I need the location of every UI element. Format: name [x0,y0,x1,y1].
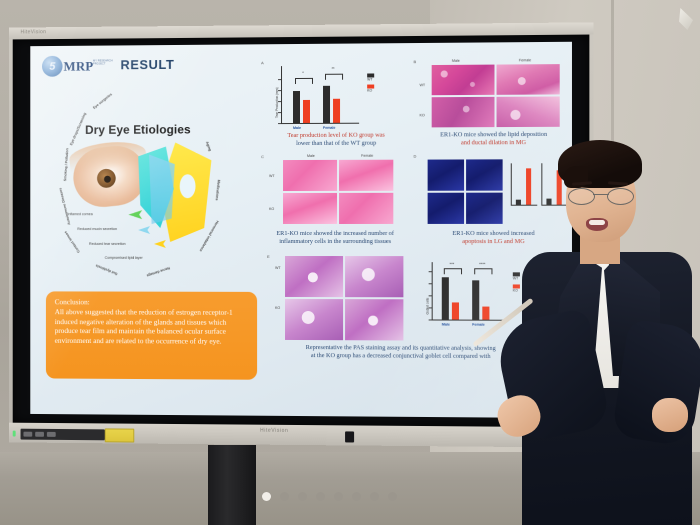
histology-cell-wt-male [432,65,495,96]
histo-b-row-wt: WT [420,83,426,87]
chart-e-bar-ko-female [482,307,489,320]
slide-dot-5[interactable] [334,492,343,501]
tunel-cell-1 [428,159,465,191]
chart-e-sig-female: **** [472,261,492,266]
logo-subtext: MY RESEARCH PROJECT [93,59,115,66]
chart-e-xtick-female: Female [472,323,485,327]
logo-text: MRP [64,59,94,75]
histology-cell-c-1 [283,160,337,191]
histo-c-col-male: Male [307,154,315,158]
histo-b-row-ko: KO [420,113,425,117]
presenter-mouth [586,218,608,231]
caption-panel-e: Representative the PAS staining assay an… [265,344,537,361]
infographic-title: Dry Eye Etiologies [85,123,191,137]
chart-a-legend-ko-label: KO [367,89,372,93]
chart-a-bar-wt-female [323,86,330,123]
top-bezel-logo: HiteVision [21,29,47,35]
panel-tag-e: E [267,254,270,259]
chart-e-sigbar-male [444,268,462,274]
chart-a-bar-wt-male [293,91,300,123]
chart-a-sig-male: * [295,70,311,75]
caption-e-line2: at the KO group has a decreased conjunct… [265,352,537,361]
chart-goblet-cells: Goblet cells *** **** Male Female WT [432,262,507,321]
panel-tag-b: B [413,59,416,64]
chart-e-bar-wt-male [442,277,449,319]
control-button-1[interactable] [23,432,32,437]
bottom-bezel-brand: HiteVision [260,428,288,434]
pas-cell-2 [345,256,404,297]
display-control-panel[interactable] [21,429,105,441]
chart-a-legend-wt: WT [367,73,376,81]
inner-label-1: Reduced mucin secretion [77,227,117,231]
tunel-cell-3 [428,192,465,223]
pas-cell-1 [285,256,343,297]
chart-a-xtick-male: Male [293,126,301,130]
caption-c-line1: ER1-KO mice showed the increased number … [259,230,411,238]
chart-e-ylabel: Goblet cells [426,298,430,315]
eye-pupil [104,175,112,183]
inner-label-0: Inflamed cornea [67,212,92,216]
chart-a-bar-ko-male [303,100,310,123]
caption-c-line2: inflammatory cells in the surrounding ti… [259,238,411,246]
slide-title: RESULT [120,57,174,72]
histo-e-row-ko: KO [275,306,280,310]
logo-mark-icon: 5 [42,56,63,77]
histology-cell-c-4 [339,193,394,224]
chart-a-sigbar-male [295,78,313,84]
pas-cell-3 [285,299,343,340]
panel-tag-a: A [261,60,264,65]
glasses-lens-right [607,188,634,205]
chart-e-bar-ko-male [452,302,459,319]
slide-dot-2[interactable] [280,492,289,501]
chart-e-xtick-male: Male [442,323,450,327]
chart-a-y-axis [281,66,282,124]
chart-e-y-axis [432,262,433,320]
histo-c-row-ko: KO [269,207,274,211]
chart-e-sig-male: *** [442,261,462,266]
control-button-3[interactable] [47,432,56,437]
eye-iris [96,168,117,189]
inner-label-3: Compromised lipid layer [105,256,143,260]
chart-a-xtick-female: Female [323,126,335,130]
control-button-2[interactable] [35,432,44,437]
scene: HiteVision 5 MRP MY RESEARCH PROJECT RES… [0,0,700,525]
power-led-icon [13,431,16,437]
slide-dot-6[interactable] [352,492,361,501]
chart-e-bar-wt-female [472,280,479,319]
presentation-slide[interactable]: 5 MRP MY RESEARCH PROJECT RESULT Eye sur… [30,42,572,418]
histology-cell-ko-male [432,97,495,128]
glasses-lens-left [568,188,595,205]
histo-e-row-wt: WT [275,266,281,270]
presenter-hair [558,140,642,188]
slide-dot-3[interactable] [298,492,307,501]
ir-receiver-icon [345,431,354,442]
display-stand-column [208,445,256,525]
histo-b-col-male: Male [452,59,460,63]
inner-label-2: Reduced tear secretion [89,242,126,246]
chart-a-ylabel: Tear Production (mm) [275,87,279,118]
chart-tear-production: Tear Production (mm) * ** Male Female WT [281,66,359,125]
chart-a-bar-ko-female [333,99,340,123]
tunel-cell-2 [466,159,503,191]
slide-indicator-dots[interactable] [262,492,397,501]
conclusion-box: Conclusion: All above suggested that the… [46,291,257,379]
display-screen[interactable]: 5 MRP MY RESEARCH PROJECT RESULT Eye sur… [30,42,572,418]
chart-a-sigbar-female [325,74,343,80]
histology-grid-inflammatory [283,160,393,224]
aqueous-layer-shape [149,154,175,224]
panel-tag-c: C [261,154,264,159]
mrp-logo: 5 MRP MY RESEARCH PROJECT [42,56,103,78]
warning-label [105,428,135,442]
conclusion-heading: Conclusion: [55,297,248,307]
dry-eye-etiologies-infographic: Eye surgeries Eye drops/Screening Smokin… [48,84,235,283]
pas-cell-4 [345,299,404,341]
presenter-hand-left [652,398,688,432]
caption-a-line2: lower than that of the WT group [261,140,411,149]
histology-grid-mg [432,64,560,127]
chart-e-x-axis [432,319,507,320]
chart-a-legend-ko: KO [367,84,376,92]
tunel-cell-4 [466,192,503,224]
histo-c-row-wt: WT [269,174,275,178]
chart-a-legend-wt-label: WT [367,78,372,82]
slide-dot-7[interactable] [370,492,379,501]
chart-a-sig-female: ** [325,66,341,71]
histology-cell-c-3 [283,193,337,224]
tunel-grid-lg [428,159,503,224]
caption-panel-c: ER1-KO mice showed the increased number … [259,230,411,246]
histology-cell-c-2 [339,160,394,191]
histology-cell-ko-female [496,96,559,127]
slide-dot-1[interactable] [262,492,271,501]
slide-dot-4[interactable] [316,492,325,501]
panel-tag-d: D [413,154,416,159]
conclusion-body: All above suggested that the reduction o… [55,307,248,346]
slide-dot-8[interactable] [388,492,397,501]
histology-cell-wt-female [496,64,559,95]
histo-b-col-female: Female [519,58,531,62]
presenter [512,128,700,525]
caption-panel-a: Tear production level of KO group was lo… [261,131,411,148]
eyeglasses-icon [568,188,634,203]
histo-c-col-female: Female [361,154,373,158]
chart-e-sigbar-female [474,268,492,274]
pas-histology-grid [285,256,403,340]
